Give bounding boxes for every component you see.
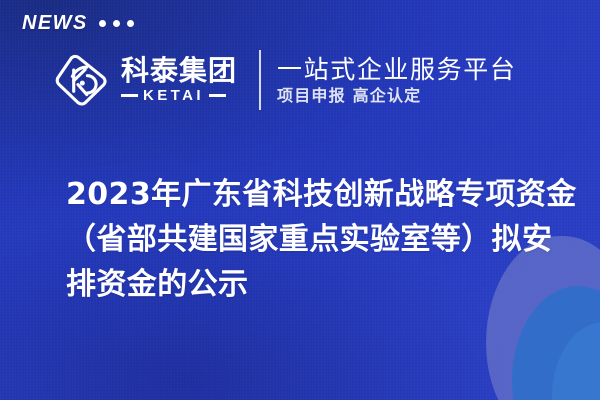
page-title: 2023年广东省科技创新战略专项资金（省部共建国家重点实验室等）拟安排资金的公示 [66,172,582,307]
rule-left-icon [121,94,138,97]
dot-icon [99,20,106,27]
brand-wordmark: 科泰集团 KETAI [121,57,237,103]
news-label: NEWS [22,13,88,33]
brand-name-cn: 科泰集团 [121,57,237,85]
brand-name-en: KETAI [143,88,204,103]
tagline-main: 一站式企业服务平台 [277,57,516,82]
dot-icon-group [99,20,134,27]
brand-logo: 科泰集团 KETAI [54,53,237,107]
dot-icon [113,20,120,27]
tagline: 一站式企业服务平台 项目申报 高企认定 [277,57,516,104]
tagline-sub: 项目申报 高企认定 [277,88,516,104]
dot-icon [127,20,134,27]
brand-name-en-row: KETAI [121,88,237,103]
vertical-divider-icon [259,50,261,110]
rule-right-icon [209,94,226,97]
eyebrow: NEWS [22,13,134,33]
brand-header: 科泰集团 KETAI 一站式企业服务平台 项目申报 高企认定 [0,40,600,120]
news-banner: NEWS 科泰集团 [0,0,600,400]
ketai-diamond-logo-icon [54,53,108,107]
